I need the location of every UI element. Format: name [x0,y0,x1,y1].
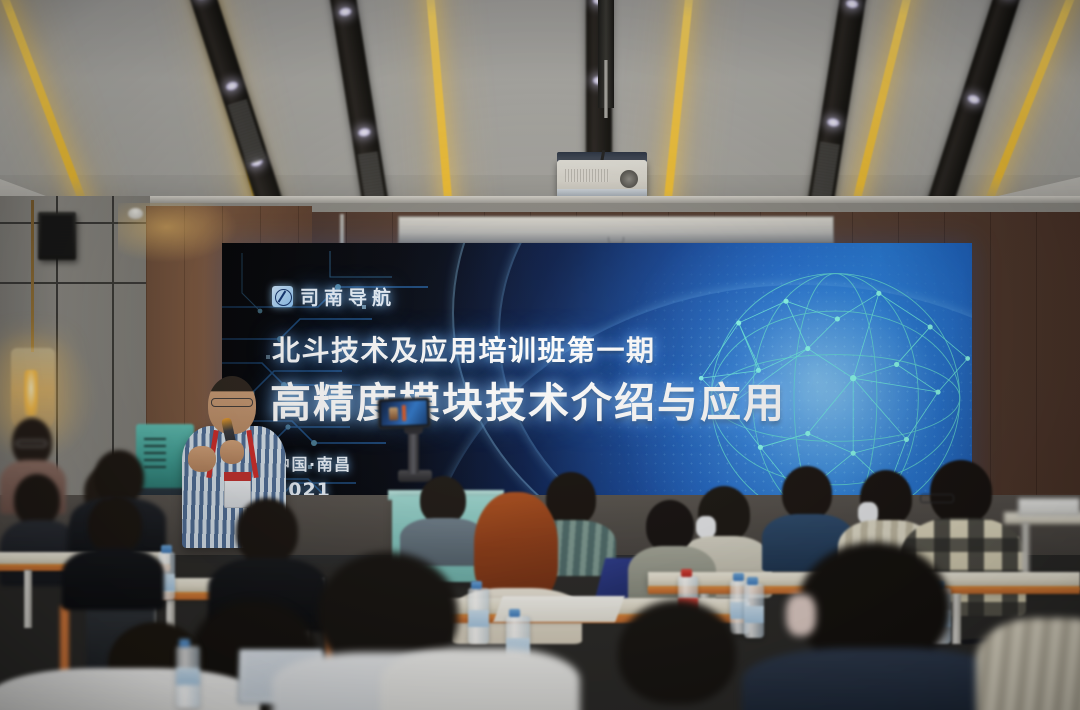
ceiling-spotlight [826,117,840,128]
gimbal-handle [408,428,419,474]
dome-camera-icon [128,208,143,219]
panel-seam [0,282,150,284]
projector-mount-rod [604,60,608,118]
water-bottle [176,646,200,708]
audience-person-foreground [588,600,768,710]
compass-square-icon [272,286,293,307]
pendant-lamp-cord [31,200,34,352]
bottle-cap [179,639,190,647]
phone-viewfinder [381,400,428,426]
ceiling [0,0,1080,215]
ceiling-spotlight [357,127,371,138]
table-leg [1022,522,1029,578]
person-torso [976,618,1080,710]
audience-person-foreground [0,628,260,710]
presenter-hand [220,440,244,464]
person-torso [742,648,1010,710]
ceiling-plane [0,0,1080,175]
bottle-cap [681,569,692,577]
projector-lens-icon [620,170,638,188]
audience-person-foreground [742,542,1010,710]
screen-title: 高精度模块技术介绍与应用 [270,369,786,429]
bottle-cap [509,609,520,617]
person-head [88,496,142,554]
wall-speaker [38,212,76,260]
presenter-hand [188,446,216,472]
person-glasses-icon [920,494,954,503]
person-glasses-icon [16,440,47,447]
smartphone-recording[interactable] [377,397,430,429]
ceiling-spotlight [224,80,239,93]
audience-person-foreground [380,648,580,710]
person-head [930,460,992,524]
ceiling-spotlight [845,0,859,9]
ceiling-spotlight [966,93,981,106]
desk-leg [24,570,32,628]
person-torso [62,548,164,610]
equipment-box [1018,498,1080,516]
audience-person-foreground [976,618,1080,710]
ceiling-projector [557,160,647,198]
brand-logo-text: 司南导航 [300,283,396,310]
presenter-badge [224,472,251,481]
conference-photo: 司南导航 北斗技术及应用培训班第一期 高精度模块技术介绍与应用 中国·南昌 20… [0,0,1080,710]
person-head [14,474,60,526]
person-head [618,600,736,704]
screen-subtitle: 北斗技术及应用培训班第一期 [272,329,656,369]
face-mask-icon [786,594,816,636]
person-head [646,500,694,552]
person-head [782,466,832,520]
projector-vent [565,169,609,182]
person-torso [380,648,580,710]
bottle-label [176,668,200,685]
wall-conduit [340,214,344,244]
pendant-lamp-filament [24,370,38,416]
ceiling-spotlight [338,6,352,17]
audience-person [62,496,164,606]
wall-cornice [0,196,1080,203]
screen-brand-logo: 司南导航 [272,283,396,310]
person-torso [0,668,260,710]
presenter-glasses-icon [211,398,253,407]
projection-roller-screen [398,216,834,244]
ceiling-spotlight [195,0,210,1]
